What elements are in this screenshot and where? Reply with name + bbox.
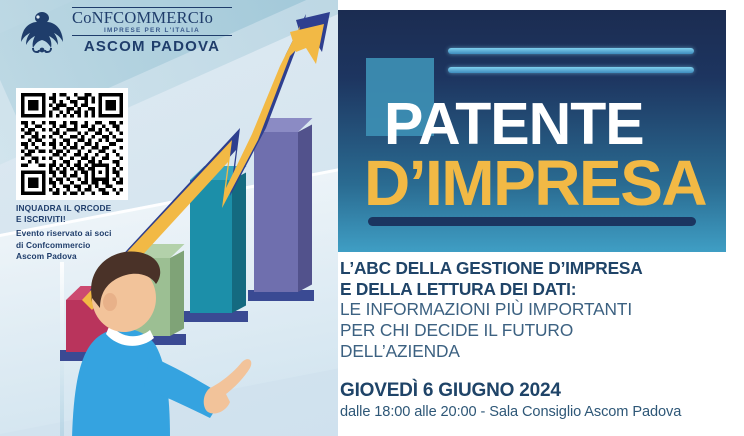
sub-line-3: DELL’AZIENDA	[340, 341, 740, 362]
qr-caption: INQUADRA IL QRCODE E ISCRIVITI!	[16, 203, 176, 225]
sub-line-2: PER CHI DECIDE IL FUTURO	[340, 320, 740, 341]
qr-caption-line2: E ISCRIVITI!	[16, 214, 176, 225]
heading-line-1: L’ABC DELLA GESTIONE D’IMPRESA	[340, 258, 740, 279]
logo-brand: CᴏNFCOMMERCIᴏ	[72, 7, 232, 26]
qr-note-line1: Evento riservato ai soci	[16, 228, 186, 240]
sub-line-1: LE INFORMAZIONI PIÙ IMPORTANTI	[340, 299, 740, 320]
qr-note-line2: di Confcommercio	[16, 240, 186, 252]
title-card: PATENTE D’IMPRESA	[338, 10, 726, 252]
qr-note: Evento riservato ai soci di Confcommerci…	[16, 228, 186, 263]
title-line-2: D’IMPRESA	[364, 150, 706, 216]
event-time-place: dalle 18:00 alle 20:00 - Sala Consiglio …	[340, 404, 681, 420]
decorative-line-2	[448, 67, 694, 73]
businessman-pointing-icon	[58, 246, 278, 436]
confcommercio-logo: CᴏNFCOMMERCIᴏ IMPRESE PER L'ITALIA ASCOM…	[18, 7, 233, 59]
subtitle-block: L’ABC DELLA GESTIONE D’IMPRESA E DELLA L…	[340, 258, 740, 362]
event-date: GIOVEDÌ 6 GIUGNO 2024	[340, 380, 561, 402]
logo-tagline: IMPRESE PER L'ITALIA	[72, 26, 232, 35]
qr-code-icon[interactable]	[16, 88, 128, 200]
event-poster: CᴏNFCOMMERCIᴏ IMPRESE PER L'ITALIA ASCOM…	[0, 0, 744, 436]
title-line-1: PATENTE	[384, 94, 644, 154]
confcommercio-eagle-icon	[18, 10, 66, 54]
heading-line-2: E DELLA LETTURA DEI DATI:	[340, 279, 740, 300]
decorative-line-1	[448, 48, 694, 54]
logo-local: ASCOM PADOVA	[72, 35, 232, 55]
qr-code-matrix	[21, 93, 123, 195]
illustration-panel: CᴏNFCOMMERCIᴏ IMPRESE PER L'ITALIA ASCOM…	[0, 0, 338, 436]
qr-caption-line1: INQUADRA IL QRCODE	[16, 203, 176, 214]
title-underline	[368, 217, 696, 226]
content-panel: PATENTE D’IMPRESA L’ABC DELLA GESTIONE D…	[338, 0, 744, 436]
qr-note-line3: Ascom Padova	[16, 251, 186, 263]
logo-wordmark: CᴏNFCOMMERCIᴏ IMPRESE PER L'ITALIA ASCOM…	[72, 7, 232, 55]
